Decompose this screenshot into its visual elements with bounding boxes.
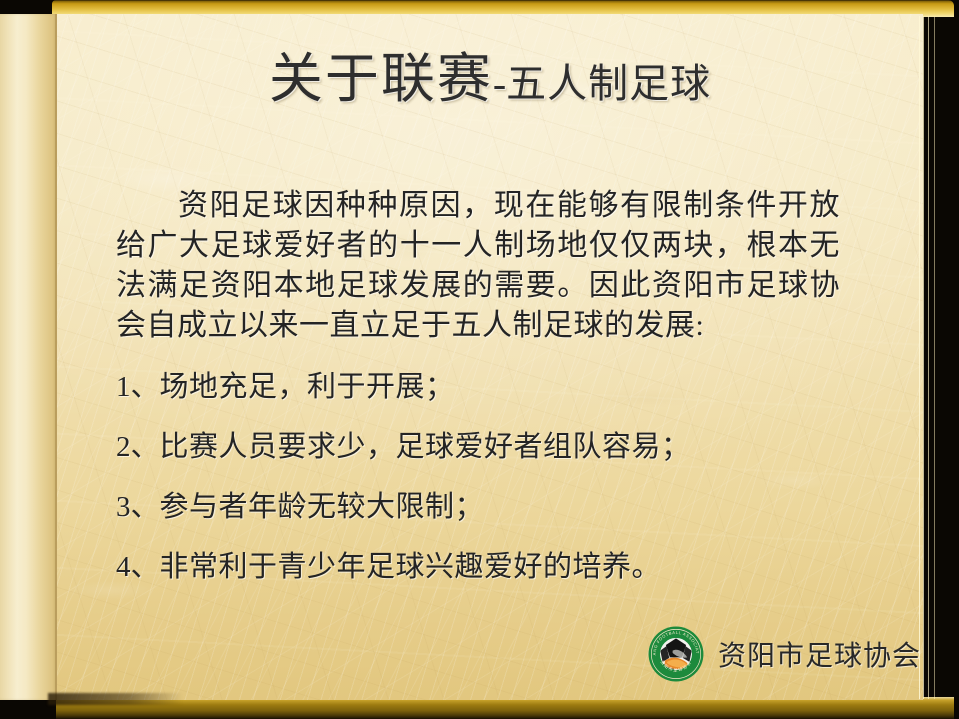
list-item-label: 非常利于青少年足球兴趣爱好的培养。 [160,551,662,583]
list-item-label: 参与者年龄无较大限制； [160,491,485,523]
slide-content: 关于联赛-五人制足球 资阳足球因种种原因，现在能够有限制条件开放给广大足球爱好者… [0,0,959,719]
slide-title-separator: - [493,61,506,106]
list-item-label: 比赛人员要求少，足球爱好者组队容易； [160,431,691,463]
slide-title-sub: 五人制足球 [506,61,711,106]
list-item-label: 场地充足，利于开展； [160,371,455,403]
benefits-list: 1、场地充足，利于开展； 2、比赛人员要求少，足球爱好者组队容易； 3、参与者年… [116,368,840,586]
list-item: 1、场地充足，利于开展； [116,368,840,406]
slide-footer: ZIYANG FOOTBALL ASSOCIATION 资阳市足球协会 资阳市足… [648,626,921,682]
list-item-number: 2、 [116,431,160,463]
slide-body: 资阳足球因种种原因，现在能够有限制条件开放给广大足球爱好者的十一人制场地仅仅两块… [116,186,840,608]
presentation-slide: 关于联赛-五人制足球 资阳足球因种种原因，现在能够有限制条件开放给广大足球爱好者… [0,0,959,719]
ziyang-football-association-logo-icon: ZIYANG FOOTBALL ASSOCIATION 资阳市足球协会 [648,626,704,682]
slide-title-main: 关于联赛 [269,49,493,109]
slide-title: 关于联赛-五人制足球 [57,52,923,106]
list-item: 4、非常利于青少年足球兴趣爱好的培养。 [116,548,840,586]
list-item: 3、参与者年龄无较大限制； [116,488,840,526]
list-item-number: 1、 [116,371,160,403]
list-item: 2、比赛人员要求少，足球爱好者组队容易； [116,428,840,466]
footer-organization-name: 资阳市足球协会 [718,634,921,674]
list-item-number: 3、 [116,491,160,523]
intro-paragraph: 资阳足球因种种原因，现在能够有限制条件开放给广大足球爱好者的十一人制场地仅仅两块… [116,186,840,346]
list-item-number: 4、 [116,551,160,583]
